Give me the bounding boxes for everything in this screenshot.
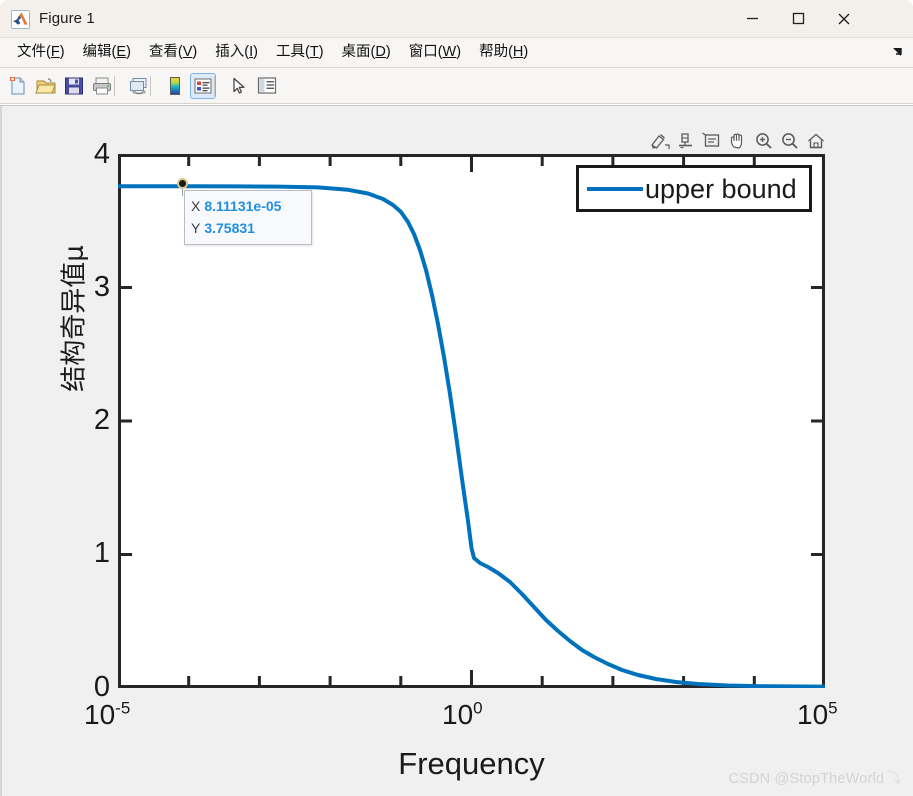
menu-item-file-close: ) — [60, 44, 65, 60]
new-document-icon — [7, 75, 29, 97]
watermark: CSDN @StopTheWorld⤵ — [728, 767, 902, 788]
y-tick-label-4: 4 — [74, 139, 110, 169]
x-tick-0-mantissa: 10 — [84, 699, 115, 730]
menu-item-tools-label: 工具( — [276, 44, 310, 60]
brush-data-button[interactable] — [648, 129, 672, 153]
x-tick-2-mantissa: 10 — [797, 699, 828, 730]
series-upper-bound — [118, 186, 825, 686]
restore-view-button[interactable] — [804, 129, 828, 153]
menu-item-help[interactable]: 帮助(H) — [470, 38, 537, 67]
pan-button[interactable] — [726, 129, 750, 153]
datatip-box[interactable]: X8.11131e-05 Y3.75831 — [184, 190, 312, 245]
menu-item-file[interactable]: 文件(F) — [8, 38, 74, 67]
brush-icon — [649, 131, 671, 151]
menu-item-window-key: W — [443, 44, 457, 60]
legend-button[interactable] — [190, 73, 216, 99]
datatip-x-key: X — [191, 198, 200, 214]
home-icon — [805, 131, 827, 151]
x-tick-2-exponent: 5 — [828, 699, 837, 718]
menu-item-insert[interactable]: 插入(I) — [206, 38, 267, 67]
watermark-tail-icon: ⤵ — [887, 767, 902, 788]
menu-item-list: 文件(F) 编辑(E) 查看(V) 插入(I) 工具(T) 桌面(D) 窗口(W… — [8, 38, 537, 67]
datatip-marker[interactable] — [177, 178, 188, 189]
menu-item-file-label: 文件( — [17, 44, 51, 60]
pan-hand-icon — [727, 131, 749, 151]
toolbar-separator-2 — [150, 76, 151, 96]
save-figure-button[interactable] — [61, 73, 87, 99]
legend-line-swatch — [587, 187, 643, 191]
minimize-button[interactable] — [729, 0, 775, 37]
matlab-logo-icon — [11, 10, 30, 29]
maximize-button[interactable] — [775, 0, 821, 37]
menu-item-tools-key: T — [310, 44, 319, 60]
menu-item-help-key: H — [513, 44, 523, 60]
menu-overflow-arrow-icon[interactable] — [890, 45, 904, 59]
link-plot-button[interactable] — [126, 73, 152, 99]
menu-item-window-close: ) — [456, 44, 461, 60]
menu-item-window[interactable]: 窗口(W) — [400, 38, 470, 67]
property-editor-button[interactable] — [254, 73, 280, 99]
datatip-x-row: X8.11131e-05 — [191, 195, 305, 217]
menu-item-tools-close: ) — [319, 44, 324, 60]
zoom-out-icon — [779, 131, 801, 151]
menu-item-help-close: ) — [523, 44, 528, 60]
close-button[interactable] — [821, 0, 867, 37]
datatip-y-row: Y3.75831 — [191, 217, 305, 239]
menu-item-view[interactable]: 查看(V) — [140, 38, 206, 67]
minimize-icon — [746, 12, 759, 25]
open-file-button[interactable] — [33, 73, 59, 99]
y-tick-label-1: 1 — [74, 538, 110, 568]
axes-toolbar — [648, 128, 828, 154]
menu-item-desktop-label: 桌面( — [342, 44, 376, 60]
menu-item-desktop-key: D — [375, 44, 385, 60]
link-plot-icon — [128, 75, 150, 97]
menu-bar: 文件(F) 编辑(E) 查看(V) 插入(I) 工具(T) 桌面(D) 窗口(W… — [0, 38, 913, 68]
toolbar-separator-3 — [214, 76, 215, 96]
x-tick-1-exponent: 0 — [473, 699, 482, 718]
menu-item-insert-close: ) — [253, 44, 258, 60]
zoom-in-button[interactable] — [752, 129, 776, 153]
open-folder-icon — [35, 75, 57, 97]
menu-item-view-close: ) — [192, 44, 197, 60]
property-editor-icon — [256, 75, 278, 97]
title-bar: Figure 1 — [0, 0, 913, 38]
cursor-arrow-icon — [229, 76, 249, 96]
x-tick-1-mantissa: 10 — [442, 699, 473, 730]
data-tips-button[interactable] — [700, 129, 724, 153]
matlab-figure-window: Figure 1 文件(F) 编辑(E) 查看(V) 插入(I) 工具(T) 桌 — [0, 0, 913, 796]
x-tick-label-2: 105 — [797, 700, 838, 730]
canvas-left-edge — [0, 106, 2, 796]
datatip-x-value: 8.11131e-05 — [204, 198, 281, 214]
y-tick-label-0: 0 — [74, 672, 110, 702]
zoom-out-button[interactable] — [778, 129, 802, 153]
menu-item-window-label: 窗口( — [409, 44, 443, 60]
menu-item-desktop-close: ) — [386, 44, 391, 60]
zoom-in-icon — [753, 131, 775, 151]
colorbar-button[interactable] — [162, 73, 188, 99]
legend-icon — [193, 76, 213, 96]
colorbar-icon — [164, 75, 186, 97]
close-icon — [837, 12, 851, 26]
figure-toolbar — [0, 68, 913, 104]
datatip-icon — [701, 131, 723, 151]
menu-item-insert-label: 插入( — [215, 44, 249, 60]
y-axis-label: 结构奇异值μ — [54, 189, 91, 449]
menu-item-edit-key: E — [116, 44, 126, 60]
x-tick-label-0: 10-5 — [84, 700, 130, 730]
plot-legend[interactable]: upper bound — [576, 165, 812, 212]
datatip-y-value: 3.75831 — [204, 220, 255, 236]
save-disk-icon — [63, 75, 85, 97]
data-linking-button[interactable] — [674, 129, 698, 153]
window-title: Figure 1 — [39, 9, 95, 29]
new-figure-button[interactable] — [5, 73, 31, 99]
legend-label: upper bound — [645, 174, 797, 204]
x-axis-label: Frequency — [118, 746, 825, 782]
menu-item-view-key: V — [183, 44, 193, 60]
menu-item-view-label: 查看( — [149, 44, 183, 60]
watermark-text: CSDN @StopTheWorld — [728, 771, 884, 787]
menu-item-tools[interactable]: 工具(T) — [267, 38, 333, 67]
edit-plot-button[interactable] — [226, 73, 252, 99]
datatip-y-key: Y — [191, 220, 200, 236]
maximize-icon — [792, 12, 805, 25]
menu-item-help-label: 帮助( — [479, 44, 513, 60]
x-tick-0-exponent: -5 — [115, 699, 130, 718]
y-tick-marks — [118, 288, 825, 555]
toolbar-separator-1 — [114, 76, 115, 96]
printer-icon — [91, 75, 113, 97]
x-tick-label-1: 100 — [442, 700, 483, 730]
menu-item-file-key: F — [51, 44, 60, 60]
data-link-icon — [675, 131, 697, 151]
print-figure-button[interactable] — [89, 73, 115, 99]
menu-item-edit-close: ) — [126, 44, 131, 60]
menu-item-edit-label: 编辑( — [83, 44, 117, 60]
menu-item-edit[interactable]: 编辑(E) — [74, 38, 140, 67]
menu-item-desktop[interactable]: 桌面(D) — [333, 38, 400, 67]
